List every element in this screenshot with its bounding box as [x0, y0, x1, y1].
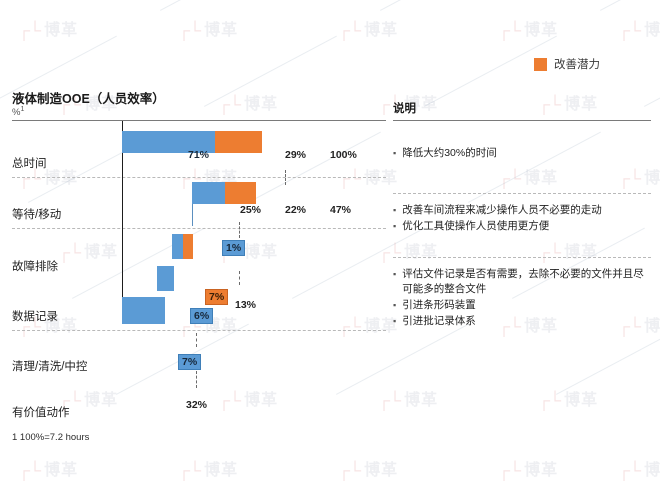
watermark-logo: ┌└博革: [538, 392, 598, 409]
watermark-text: 博革: [364, 23, 398, 39]
watermark-logo: ┌└博革: [18, 22, 78, 39]
watermark-glyph: ┌└: [18, 462, 40, 479]
explanation-title: 说明: [393, 100, 651, 120]
value-data-recording-potential: 7%: [205, 289, 228, 305]
explanation-item-text: 引进条形码装置: [402, 298, 651, 313]
explanation-item-text: 降低大约30%的时间: [402, 146, 651, 161]
row-separator-3: [12, 330, 386, 331]
watermark-glyph: ┌└: [538, 392, 560, 409]
explanation-header-rule: [393, 120, 651, 121]
bar-troubleshooting-potential: [183, 234, 193, 259]
chart-unit-label: %1: [12, 106, 24, 118]
value-total-time-potential: 29%: [285, 149, 306, 161]
watermark-glyph: ┌└: [618, 462, 640, 479]
legend-label-improvement-potential: 改善潜力: [554, 56, 600, 72]
bar-total-time-potential: [215, 131, 262, 153]
connector-total-time-right: [285, 170, 286, 185]
chart-unit-footnote-marker: 1: [20, 106, 24, 113]
watermark-text: 博革: [404, 393, 438, 409]
explanation-item-text: 改善车间流程来减少操作人员不必要的走动: [402, 203, 651, 218]
bar-troubleshooting-current: [172, 234, 183, 259]
watermark-streak: [380, 0, 513, 11]
explanation-item: ▪ 降低大约30%的时间: [393, 146, 651, 161]
watermark-glyph: ┌└: [618, 22, 640, 39]
watermark-streak: [644, 36, 660, 107]
watermark-text: 博革: [524, 463, 558, 479]
bullet-icon: ▪: [393, 203, 396, 218]
bullet-icon: ▪: [393, 314, 396, 329]
connector-data-recording: [239, 271, 240, 285]
watermark-glyph: ┌└: [338, 22, 360, 39]
explanation-item: ▪ 引进批记录体系: [393, 314, 651, 329]
row-separator-1: [12, 177, 386, 178]
watermark-logo: ┌└博革: [618, 462, 660, 479]
watermark-streak: [0, 0, 73, 11]
value-data-recording-total: 13%: [235, 299, 256, 311]
bar-waiting-moving-current: [192, 182, 225, 204]
watermark-logo: ┌└博革: [498, 462, 558, 479]
watermark-logo: ┌└博革: [338, 22, 398, 39]
explanation-item: ▪ 引进条形码装置: [393, 298, 651, 313]
watermark-text: 博革: [364, 463, 398, 479]
value-waiting-moving-total: 47%: [330, 204, 351, 216]
watermark-glyph: ┌└: [178, 22, 200, 39]
watermark-text: 博革: [524, 23, 558, 39]
explanation-item-text: 优化工具使操作人员使用更方便: [402, 219, 651, 234]
explanation-item-text: 评估文件记录是否有需要，去除不必要的文件并且尽可能多的整合文件: [402, 267, 651, 297]
watermark-glyph: ┌└: [338, 462, 360, 479]
watermark-logo: ┌└博革: [178, 22, 238, 39]
explanation-item-text: 引进批记录体系: [402, 314, 651, 329]
legend-swatch-improvement-potential: [534, 58, 547, 71]
row-label-value-added-activity: 有价值动作: [12, 404, 70, 420]
watermark-glyph: ┌└: [498, 462, 520, 479]
value-waiting-moving-potential: 22%: [285, 204, 306, 216]
watermark-streak: [160, 0, 293, 11]
chart-legend: 改善潜力: [534, 56, 600, 72]
bar-waiting-moving-potential: [225, 182, 256, 204]
watermark-glyph: ┌└: [498, 22, 520, 39]
row-label-waiting-moving: 等待/移动: [12, 206, 61, 222]
bullet-icon: ▪: [393, 267, 396, 282]
watermark-logo: ┌└博革: [178, 462, 238, 479]
explanation-item: ▪ 评估文件记录是否有需要，去除不必要的文件并且尽可能多的整合文件: [393, 267, 651, 297]
watermark-logo: ┌└博革: [618, 22, 660, 39]
row-label-total-time: 总时间: [12, 155, 47, 171]
bar-data-recording-current: [122, 297, 165, 324]
watermark-text: 博革: [644, 23, 660, 39]
watermark-text: 博革: [644, 463, 660, 479]
bullet-icon: ▪: [393, 146, 396, 161]
connector-troubleshooting: [239, 222, 240, 238]
connector-cleaning-top: [196, 333, 197, 347]
watermark-text: 博革: [204, 23, 238, 39]
watermark-text: 博革: [564, 393, 598, 409]
bar-data-recording-upper: [157, 266, 174, 291]
bullet-icon: ▪: [393, 298, 396, 313]
connector-waiting-moving: [192, 204, 193, 226]
watermark-glyph: ┌└: [18, 22, 40, 39]
chart-title: 液体制造OOE（人员效率）: [12, 88, 165, 107]
watermark-logo: ┌└博革: [18, 462, 78, 479]
value-total-time-current: 71%: [188, 149, 209, 161]
watermark-logo: ┌└博革: [498, 22, 558, 39]
value-troubleshooting-potential: 1%: [222, 240, 245, 256]
explanation-item: ▪ 改善车间流程来减少操作人员不必要的走动: [393, 203, 651, 218]
value-waiting-moving-current: 25%: [240, 204, 261, 216]
value-data-recording-current: 6%: [190, 308, 213, 324]
chart-footnote: 1 100%=7.2 hours: [12, 432, 89, 443]
watermark-logo: ┌└博革: [378, 392, 438, 409]
explanation-panel: 说明 ▪ 降低大约30%的时间 ▪ 改善车间流程来减少操作人员不必要的走动 ▪ …: [393, 100, 651, 338]
value-value-added-current: 32%: [186, 399, 207, 411]
explanation-group-3: ▪ 评估文件记录是否有需要，去除不必要的文件并且尽可能多的整合文件 ▪ 引进条形…: [393, 257, 651, 338]
row-separator-2: [12, 228, 386, 229]
watermark-text: 博革: [44, 23, 78, 39]
row-label-troubleshooting: 故障排除: [12, 258, 58, 274]
value-total-time-total: 100%: [330, 149, 357, 161]
chart-panel: 液体制造OOE（人员效率） %1 总时间 71% 29% 100% 等待/移动 …: [0, 88, 386, 433]
watermark-logo: ┌└博革: [338, 462, 398, 479]
explanation-item: ▪ 优化工具使操作人员使用更方便: [393, 219, 651, 234]
bullet-icon: ▪: [393, 219, 396, 234]
connector-value-added: [196, 371, 197, 388]
chart-plot-area: 总时间 71% 29% 100% 等待/移动 25% 22% 47% 故障排除 …: [0, 121, 386, 433]
watermark-text: 博革: [204, 463, 238, 479]
explanation-group-1: ▪ 降低大约30%的时间: [393, 137, 651, 169]
watermark-glyph: ┌└: [178, 462, 200, 479]
row-label-data-recording: 数据记录: [12, 308, 58, 324]
value-cleaning-current: 7%: [178, 354, 201, 370]
row-label-cleaning-washing-control: 清理/清洗/中控: [12, 358, 87, 374]
watermark-text: 博革: [44, 463, 78, 479]
explanation-group-2: ▪ 改善车间流程来减少操作人员不必要的走动 ▪ 优化工具使操作人员使用更方便: [393, 193, 651, 242]
watermark-streak: [600, 0, 660, 11]
